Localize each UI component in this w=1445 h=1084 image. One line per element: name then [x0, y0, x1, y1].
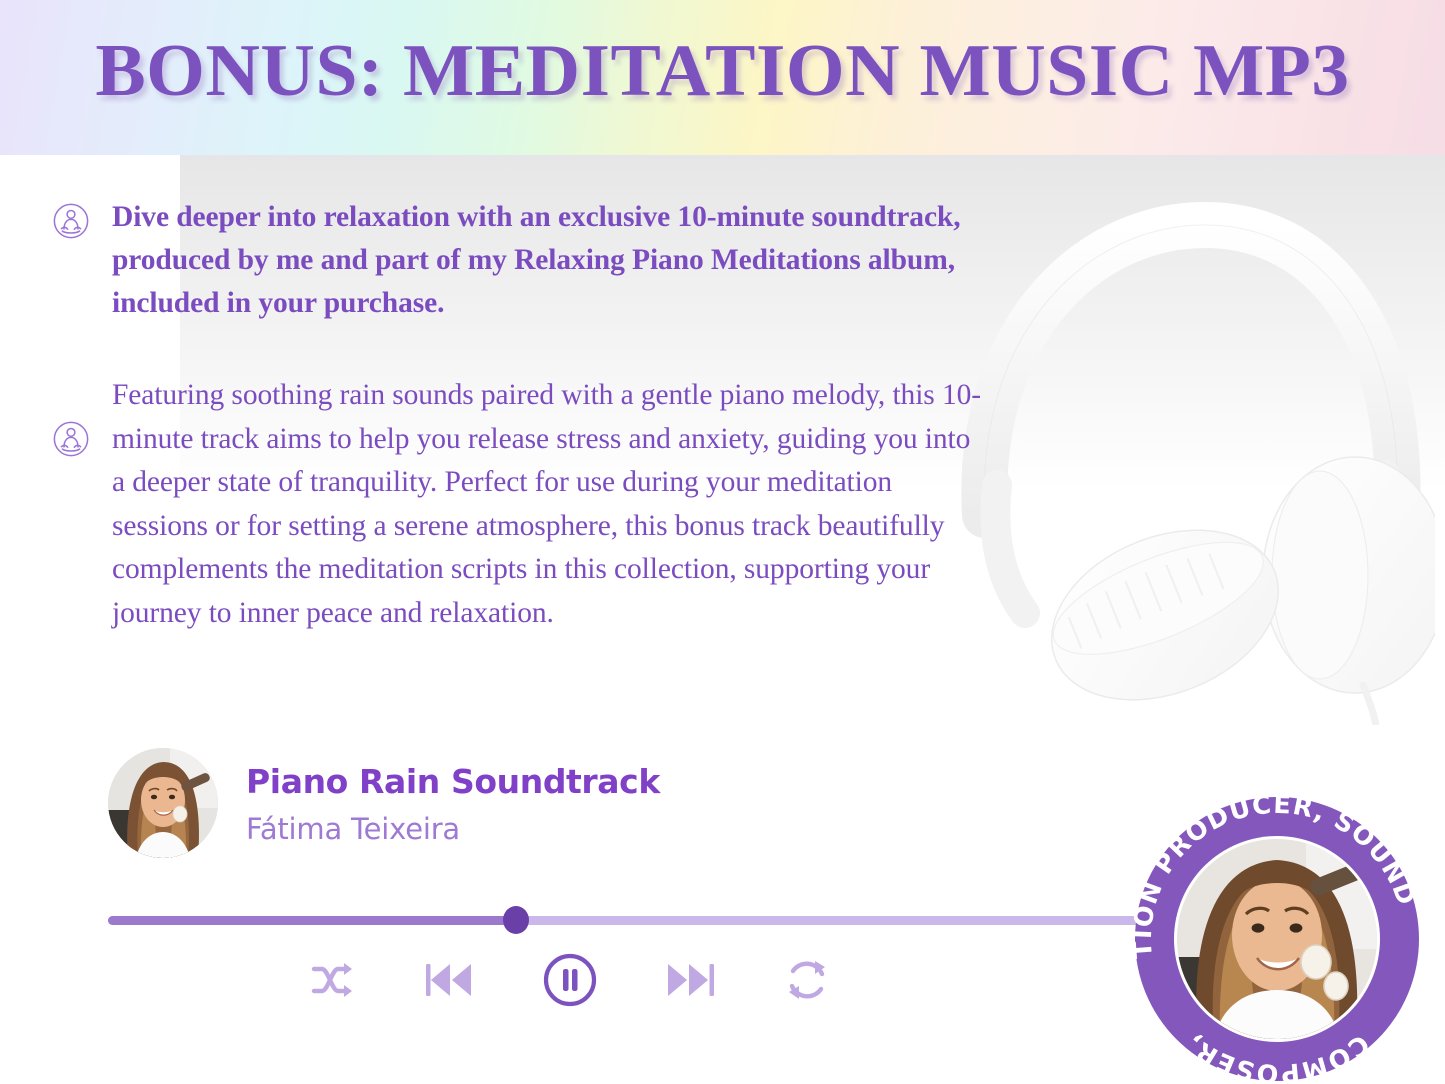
credential-badge: MEDITATION PRODUCER, SOUND HEALER COMPOS… [1110, 772, 1445, 1084]
track-title: Piano Rain Soundtrack [246, 764, 660, 800]
track-row: Piano Rain Soundtrack Fátima Teixeira [108, 748, 1218, 858]
lead-paragraph-row: Dive deeper into relaxation with an excl… [52, 196, 972, 325]
player-controls [310, 952, 830, 1008]
track-artist: Fátima Teixeira [246, 814, 660, 846]
body-paragraph: Featuring soothing rain sounds paired wi… [112, 374, 982, 635]
lead-paragraph: Dive deeper into relaxation with an excl… [112, 196, 972, 325]
pause-button[interactable] [542, 952, 598, 1008]
progress-bar[interactable] [108, 908, 1218, 932]
shuffle-icon[interactable] [310, 959, 356, 1001]
avatar [108, 748, 218, 858]
previous-track-icon[interactable] [424, 959, 474, 1001]
progress-knob[interactable] [503, 906, 529, 934]
track-meta: Piano Rain Soundtrack Fátima Teixeira [246, 760, 660, 845]
repeat-icon[interactable] [784, 957, 830, 1003]
slide-page: BONUS: MEDITATION MUSIC MP3 [0, 0, 1445, 1084]
header-banner: BONUS: MEDITATION MUSIC MP3 [0, 0, 1445, 155]
audio-player: Piano Rain Soundtrack Fátima Teixeira [108, 748, 1218, 932]
lotus-meditation-icon [52, 420, 90, 458]
page-title: BONUS: MEDITATION MUSIC MP3 [0, 29, 1445, 114]
headphones-image [955, 185, 1435, 725]
content-block: Dive deeper into relaxation with an excl… [52, 196, 972, 325]
progress-fill [108, 916, 516, 925]
next-track-icon[interactable] [666, 959, 716, 1001]
